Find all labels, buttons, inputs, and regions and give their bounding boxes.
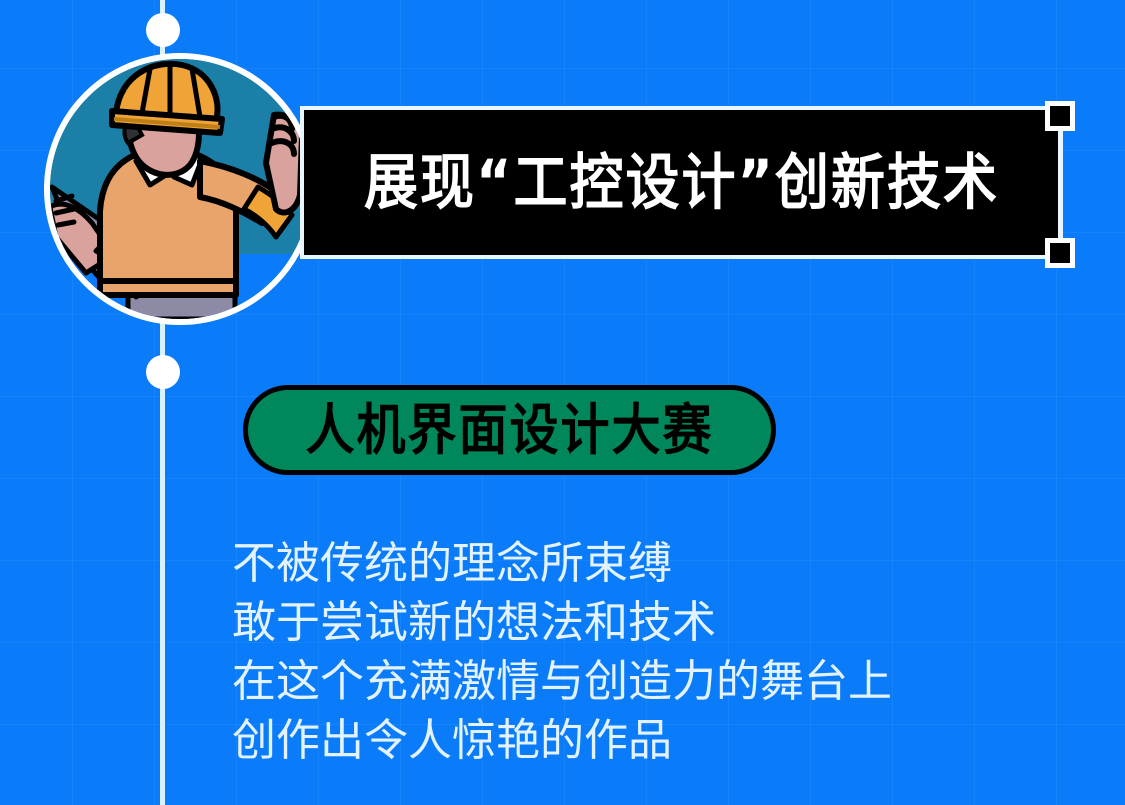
- guide-dot-bottom-icon: [146, 355, 180, 389]
- selection-edge-right: [1058, 128, 1062, 240]
- body-line-3: 在这个充满激情与创造力的舞台上: [232, 652, 1052, 711]
- contest-badge-label: 人机界面设计大赛: [305, 403, 713, 458]
- contest-badge[interactable]: 人机界面设计大赛: [243, 385, 776, 475]
- poster-canvas: 展现“工控设计”创新技术 人机界面设计大赛 不被传统的理念所束缚 敢于尝试新的想…: [0, 0, 1125, 805]
- body-copy: 不被传统的理念所束缚 敢于尝试新的想法和技术 在这个充满激情与创造力的舞台上 创…: [232, 534, 1052, 770]
- selection-handle-bottom-right[interactable]: [1045, 238, 1075, 268]
- body-line-2: 敢于尝试新的想法和技术: [232, 593, 1052, 652]
- body-line-4: 创作出令人惊艳的作品: [232, 711, 1052, 770]
- page-title: 展现“工控设计”创新技术: [364, 152, 999, 212]
- selection-handle-top-right[interactable]: [1045, 101, 1075, 131]
- title-banner[interactable]: 展现“工控设计”创新技术: [304, 110, 1059, 255]
- body-line-1: 不被传统的理念所束缚: [232, 534, 1052, 593]
- engineer-illustration-svg: [50, 59, 310, 319]
- engineer-illustration: [44, 53, 316, 325]
- guide-dot-top-icon: [146, 13, 180, 47]
